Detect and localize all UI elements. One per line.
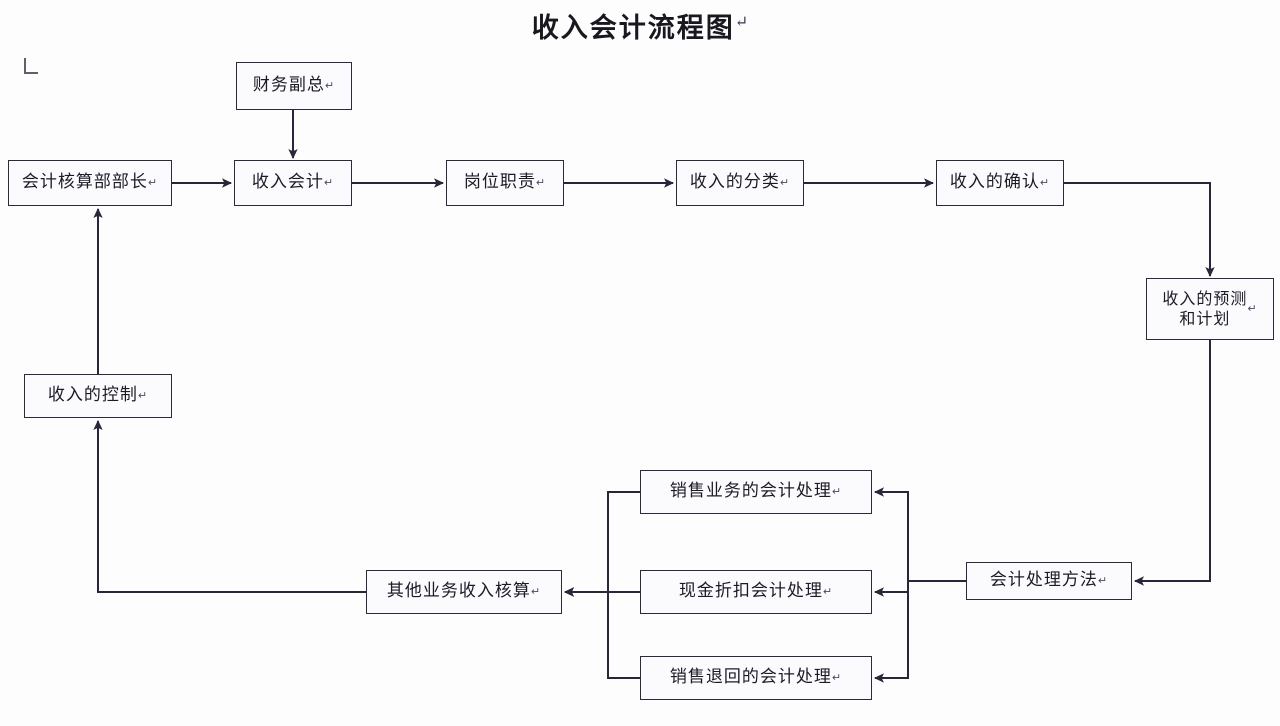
node-revenue-forecast-and-plan-label: 收入的预测 和计划 bbox=[1162, 289, 1247, 330]
edge-method-to-sales-return bbox=[875, 581, 966, 678]
edge-forecast-to-method bbox=[1135, 340, 1210, 581]
node-other-business-income-accounting-label: 其他业务收入核算 bbox=[387, 581, 531, 603]
node-mark-icon: ↵ bbox=[536, 176, 546, 190]
node-finance-vp-label: 财务副总 bbox=[253, 75, 325, 97]
node-revenue-control-label: 收入的控制 bbox=[48, 385, 138, 407]
node-mark-icon: ↵ bbox=[138, 389, 148, 403]
node-mark-icon: ↵ bbox=[780, 176, 790, 190]
page-title-text: 收入会计流程图 bbox=[532, 13, 735, 44]
node-mark-icon: ↵ bbox=[823, 585, 833, 599]
node-sales-return-accounting[interactable]: 销售退回的会计处理↵ bbox=[640, 656, 872, 700]
node-accounting-treatment-method-label: 会计处理方法 bbox=[990, 570, 1098, 592]
node-sales-return-accounting-label: 销售退回的会计处理 bbox=[670, 667, 832, 689]
node-cash-discount-accounting-label: 现金折扣会计处理 bbox=[679, 581, 823, 603]
node-mark-icon: ↵ bbox=[832, 671, 842, 685]
page-title: 收入会计流程图↵ bbox=[0, 6, 1280, 45]
flowchart-canvas: 收入会计流程图↵ 财务副总↵ 会计核算部部长 bbox=[0, 0, 1280, 726]
edge-other-to-control bbox=[98, 421, 366, 592]
edge-method-to-cash-discount bbox=[875, 581, 966, 592]
connector-layer bbox=[0, 0, 1280, 726]
node-mark-icon: ↵ bbox=[1098, 574, 1108, 588]
node-accounting-treatment-method[interactable]: 会计处理方法↵ bbox=[966, 562, 1132, 600]
node-mark-icon: ↵ bbox=[324, 176, 334, 190]
node-mark-icon: ↵ bbox=[1247, 302, 1257, 316]
node-accounting-department-head[interactable]: 会计核算部部长↵ bbox=[8, 160, 172, 206]
edge-confirm-to-forecast bbox=[1064, 183, 1210, 276]
node-revenue-forecast-and-plan[interactable]: 收入的预测 和计划↵ bbox=[1146, 278, 1274, 340]
paragraph-mark-icon: ↵ bbox=[735, 12, 748, 31]
node-mark-icon: ↵ bbox=[832, 485, 842, 499]
node-accounting-department-head-label: 会计核算部部长 bbox=[22, 172, 148, 194]
node-revenue-confirmation[interactable]: 收入的确认↵ bbox=[936, 160, 1064, 206]
node-sales-business-accounting-label: 销售业务的会计处理 bbox=[670, 481, 832, 503]
node-mark-icon: ↵ bbox=[325, 79, 335, 93]
node-revenue-classification-label: 收入的分类 bbox=[690, 172, 780, 194]
node-finance-vp[interactable]: 财务副总↵ bbox=[236, 62, 352, 110]
node-mark-icon: ↵ bbox=[1040, 176, 1050, 190]
node-mark-icon: ↵ bbox=[148, 176, 158, 190]
node-revenue-confirmation-label: 收入的确认 bbox=[950, 172, 1040, 194]
node-other-business-income-accounting[interactable]: 其他业务收入核算↵ bbox=[366, 570, 562, 614]
node-revenue-accountant[interactable]: 收入会计↵ bbox=[234, 160, 352, 206]
edge-sales-accounting-to-other bbox=[565, 492, 640, 592]
stray-return-mark-icon bbox=[24, 58, 38, 74]
edge-sales-return-to-other bbox=[565, 592, 640, 678]
node-revenue-classification[interactable]: 收入的分类↵ bbox=[676, 160, 804, 206]
node-job-responsibilities[interactable]: 岗位职责↵ bbox=[446, 160, 564, 206]
edge-method-to-sales-accounting bbox=[875, 492, 966, 581]
node-mark-icon: ↵ bbox=[531, 585, 541, 599]
node-revenue-control[interactable]: 收入的控制↵ bbox=[24, 374, 172, 418]
node-job-responsibilities-label: 岗位职责 bbox=[464, 172, 536, 194]
node-cash-discount-accounting[interactable]: 现金折扣会计处理↵ bbox=[640, 570, 872, 614]
node-revenue-accountant-label: 收入会计 bbox=[252, 172, 324, 194]
node-sales-business-accounting[interactable]: 销售业务的会计处理↵ bbox=[640, 470, 872, 514]
